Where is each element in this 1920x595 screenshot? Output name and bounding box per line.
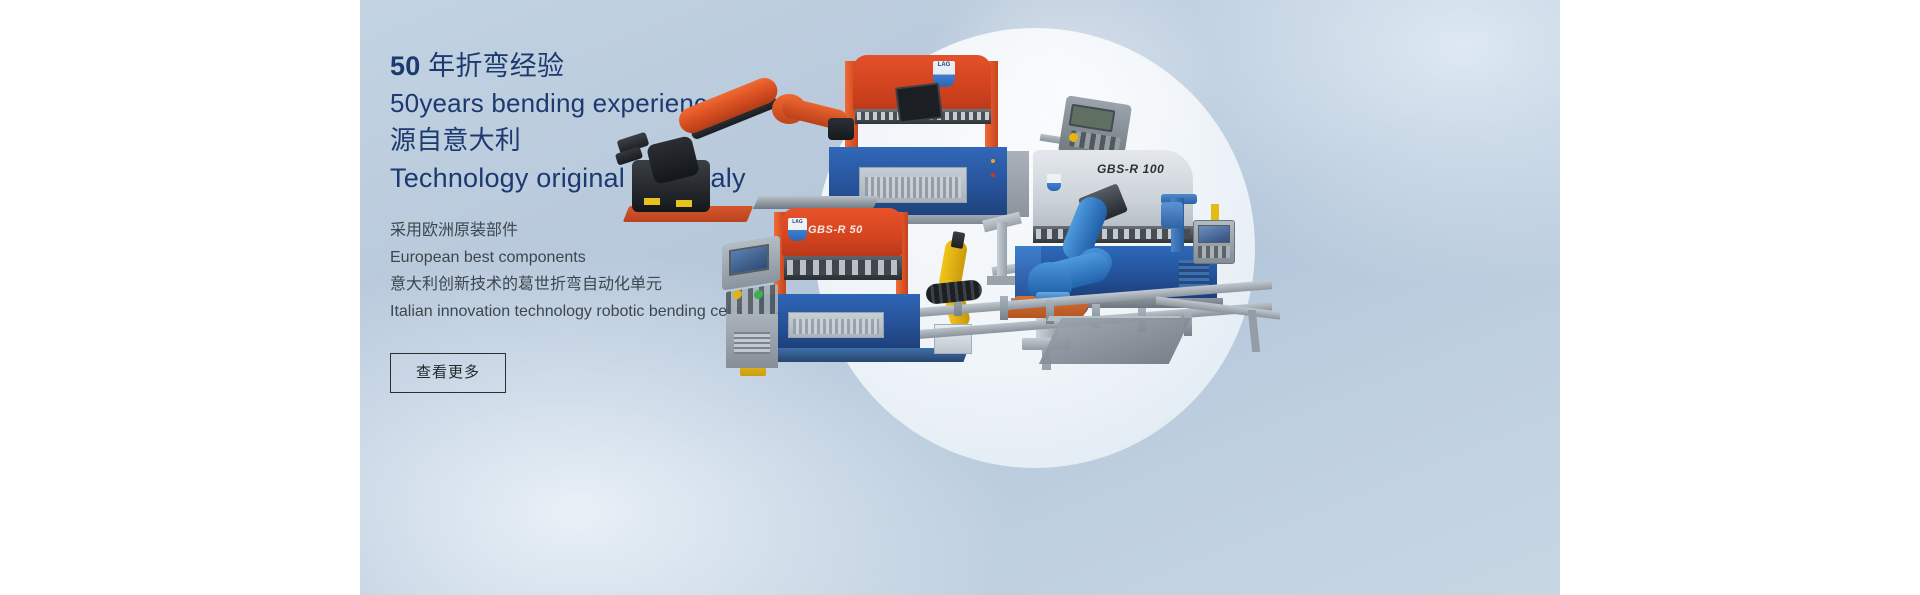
lag-logo-icon: [788, 218, 807, 241]
machine-tool-rail: [784, 256, 902, 280]
robot-wrist-tool: [828, 118, 854, 140]
machine-model-label: GBS-R 100: [1097, 162, 1164, 176]
robot-yellow-marker-1: [644, 198, 660, 205]
rail-tie: [1000, 296, 1008, 320]
machine-model-label: GBS-R 50: [808, 224, 894, 238]
pendant-keypad: [1198, 246, 1230, 258]
hero-banner: 50 年折弯经验 50years bending experience 源自意大…: [360, 0, 1560, 595]
hero-banner-page: 50 年折弯经验 50years bending experience 源自意大…: [0, 0, 1920, 595]
robot-yellow-marker-2: [676, 200, 692, 207]
headline-line-1-text: 年折弯经验: [420, 51, 564, 81]
machine-display-panel: [895, 82, 943, 123]
machine-guard-post: [997, 222, 1007, 282]
console-vent-grill: [734, 332, 770, 354]
headline-years-number: 50: [390, 51, 420, 81]
machine-vent-grill: [788, 312, 884, 338]
pendant-screen: [1198, 225, 1230, 243]
view-more-button[interactable]: 查看更多: [390, 353, 506, 393]
control-console-left: [720, 240, 786, 368]
lag-logo-icon: [1047, 174, 1061, 191]
workpiece-sheet: [1039, 318, 1191, 364]
machine-hydraulic-drum: [1161, 202, 1183, 228]
